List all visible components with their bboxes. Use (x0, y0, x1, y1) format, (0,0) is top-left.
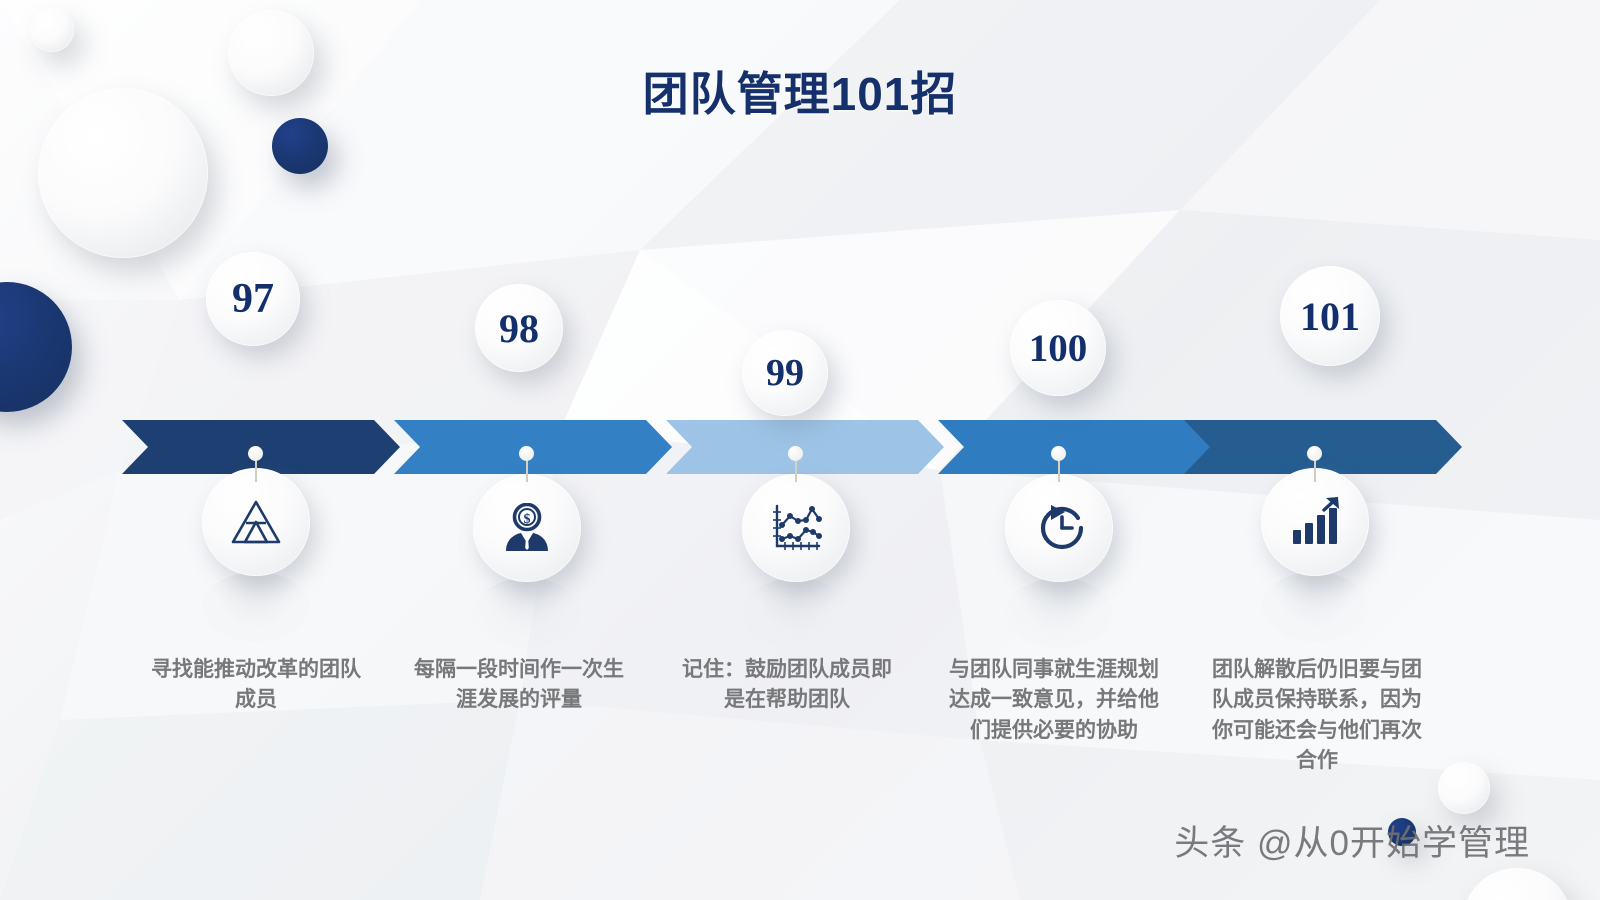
page-title: 团队管理101招 (0, 58, 1600, 124)
icon-bubble-step-1[interactable] (202, 468, 310, 576)
caption-step-4: 与团队同事就生涯规划达成一致意见，并给他们提供必要的协助 (939, 655, 1169, 746)
chevron-step-4[interactable] (938, 420, 1216, 474)
bubble-reflection-4 (1005, 578, 1113, 648)
clock-history-icon (1032, 503, 1086, 553)
number-badge-label: 98 (499, 305, 539, 352)
connector-dot-5 (1307, 446, 1322, 461)
line-chart-icon (769, 503, 823, 553)
icon-bubble-step-4[interactable] (1005, 474, 1113, 582)
connector-dot-3 (788, 446, 803, 461)
chevron-step-2[interactable] (394, 420, 672, 474)
number-badge-step-2[interactable]: 98 (475, 284, 563, 372)
chevron-step-3[interactable] (666, 420, 944, 474)
person-dollar-icon: $ (500, 503, 554, 553)
decor-sphere-bottom-right-1 (1438, 762, 1490, 814)
number-badge-label: 97 (232, 275, 274, 323)
bubble-reflection-5 (1261, 572, 1369, 642)
number-badge-label: 100 (1029, 326, 1088, 371)
number-badge-step-3[interactable]: 99 (742, 330, 828, 416)
number-badge-step-4[interactable]: 100 (1010, 300, 1106, 396)
connector-dot-1 (248, 446, 263, 461)
triangle-subdivided-icon (230, 498, 282, 546)
decor-sphere-small-top (30, 8, 74, 52)
number-badge-step-1[interactable]: 97 (206, 252, 300, 346)
chevron-band (122, 420, 1462, 474)
chevron-step-1[interactable] (122, 420, 400, 474)
bar-chart-growth-icon (1288, 497, 1342, 547)
bubble-reflection-1 (202, 572, 310, 642)
slide-canvas: 团队管理101招 (0, 0, 1600, 900)
caption-step-2: 每隔一段时间作一次生涯发展的评量 (404, 655, 634, 716)
bubble-reflection-2 (473, 578, 581, 648)
icon-bubble-step-2[interactable]: $ (473, 474, 581, 582)
caption-step-5: 团队解散后仍旧要与团队成员保持联系，因为你可能还会与他们再次合作 (1202, 655, 1432, 777)
svg-text:$: $ (524, 512, 531, 527)
number-badge-label: 101 (1300, 293, 1360, 340)
number-badge-step-5[interactable]: 101 (1280, 266, 1380, 366)
icon-bubble-step-3[interactable] (742, 474, 850, 582)
number-badge-label: 99 (766, 351, 804, 395)
connector-dot-4 (1051, 446, 1066, 461)
caption-step-3: 记住：鼓励团队成员即是在帮助团队 (672, 655, 902, 716)
bubble-reflection-3 (742, 578, 850, 648)
decor-sphere-navy-small (272, 118, 328, 174)
chevron-step-5[interactable] (1184, 420, 1462, 474)
connector-dot-2 (519, 446, 534, 461)
icon-bubble-step-5[interactable] (1261, 468, 1369, 576)
caption-step-1: 寻找能推动改革的团队成员 (141, 655, 371, 716)
watermark: 头条 @从0开始学管理 (1174, 815, 1530, 866)
